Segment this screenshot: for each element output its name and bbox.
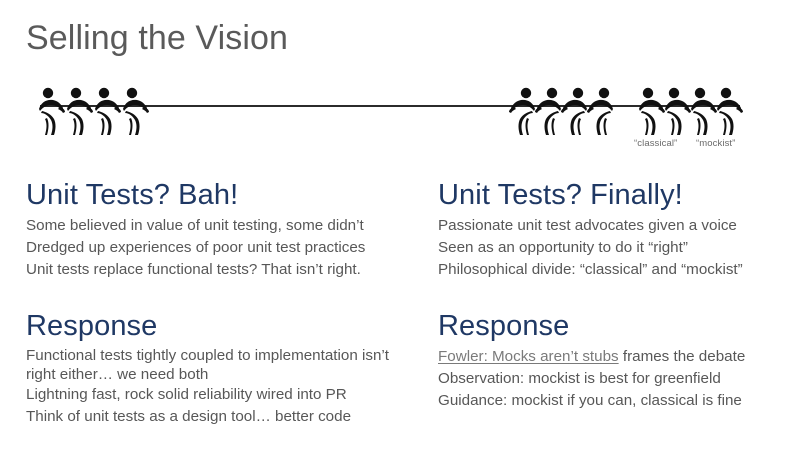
body-line: Philosophical divide: “classical” and “m…: [438, 259, 793, 281]
tug-of-war-graphic: “classical” “mockist”: [0, 80, 800, 160]
figure-group-left-team: [36, 85, 148, 137]
body-line: Observation: mockist is best for greenfi…: [438, 368, 793, 390]
body-line: Functional tests tightly coupled to impl…: [26, 346, 404, 384]
right-heading-unit-tests: Unit Tests? Finally!: [438, 178, 793, 212]
figure-group-mockist-team: [636, 85, 740, 137]
body-line: Lightning fast, rock solid reliability w…: [26, 384, 426, 406]
body-line: Seen as an opportunity to do it “right”: [438, 237, 793, 259]
tug-figure: [586, 85, 616, 137]
tug-figure: [36, 85, 66, 137]
slide-canvas: Selling the Vision: [0, 0, 800, 450]
page-title: Selling the Vision: [26, 19, 288, 58]
tug-figure: [120, 85, 150, 137]
left-body-unit-tests: Some believed in value of unit testing, …: [26, 215, 426, 281]
figure-group-classical-team: [508, 85, 612, 137]
team-label-mockist: “mockist”: [696, 138, 735, 149]
tug-figure: [64, 85, 94, 137]
spacer: [438, 281, 793, 309]
team-label-classical: “classical”: [634, 138, 677, 149]
right-body-response: Fowler: Mocks aren’t stubs frames the de…: [438, 346, 793, 412]
right-heading-response: Response: [438, 309, 793, 343]
right-body-unit-tests: Passionate unit test advocates given a v…: [438, 215, 793, 281]
left-body-response: Functional tests tightly coupled to impl…: [26, 346, 426, 428]
body-line: Guidance: mockist if you can, classical …: [438, 390, 793, 412]
fowler-mocks-arent-stubs-link[interactable]: Fowler: Mocks aren’t stubs: [438, 348, 619, 365]
spacer: [26, 281, 426, 309]
tug-figure: [92, 85, 122, 137]
body-line: Dredged up experiences of poor unit test…: [26, 237, 426, 259]
left-column: Unit Tests? Bah! Some believed in value …: [26, 178, 426, 428]
body-line: Passionate unit test advocates given a v…: [438, 215, 793, 237]
left-heading-unit-tests: Unit Tests? Bah!: [26, 178, 426, 212]
body-line: Think of unit tests as a design tool… be…: [26, 406, 426, 428]
left-heading-response: Response: [26, 309, 426, 343]
right-column: Unit Tests? Finally! Passionate unit tes…: [438, 178, 793, 412]
body-line: Some believed in value of unit testing, …: [26, 215, 426, 237]
body-line-tail: frames the debate: [619, 348, 746, 365]
body-line-with-link: Fowler: Mocks aren’t stubs frames the de…: [438, 346, 793, 368]
tug-figure: [714, 85, 744, 137]
body-line: Unit tests replace functional tests? Tha…: [26, 259, 426, 281]
